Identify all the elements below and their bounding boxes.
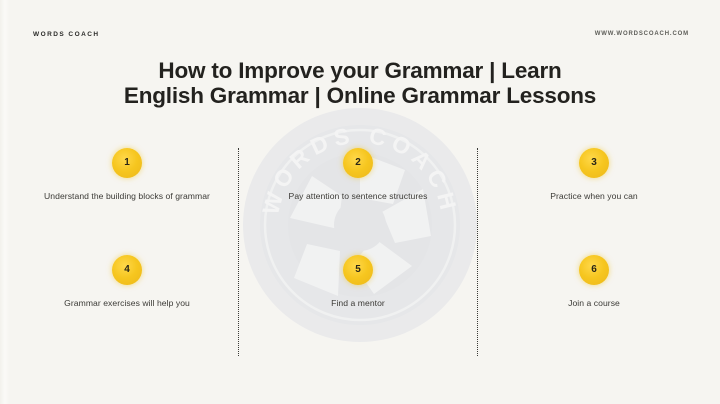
step-number-badge-5: 5 xyxy=(343,255,373,285)
step-number-badge-3: 3 xyxy=(579,148,609,178)
step-caption-6: Join a course xyxy=(504,296,684,310)
poster-canvas: WORDS COACH WORDS COACH WWW.WORDSCOACH.C… xyxy=(0,0,720,404)
step-caption-4: Grammar exercises will help you xyxy=(37,296,217,310)
steps-grid: 1 Understand the building blocks of gram… xyxy=(0,0,720,404)
step-number-badge-2: 2 xyxy=(343,148,373,178)
step-caption-5: Find a mentor xyxy=(268,296,448,310)
step-caption-2: Pay attention to sentence structures xyxy=(268,189,448,203)
step-number-badge-1: 1 xyxy=(112,148,142,178)
step-item-5: 5 Find a mentor xyxy=(268,255,448,310)
step-caption-1: Understand the building blocks of gramma… xyxy=(37,189,217,203)
step-number-badge-6: 6 xyxy=(579,255,609,285)
step-item-4: 4 Grammar exercises will help you xyxy=(37,255,217,310)
step-item-2: 2 Pay attention to sentence structures xyxy=(268,148,448,203)
step-caption-3: Practice when you can xyxy=(504,189,684,203)
step-item-6: 6 Join a course xyxy=(504,255,684,310)
step-item-1: 1 Understand the building blocks of gram… xyxy=(37,148,217,203)
step-number-badge-4: 4 xyxy=(112,255,142,285)
step-item-3: 3 Practice when you can xyxy=(504,148,684,203)
